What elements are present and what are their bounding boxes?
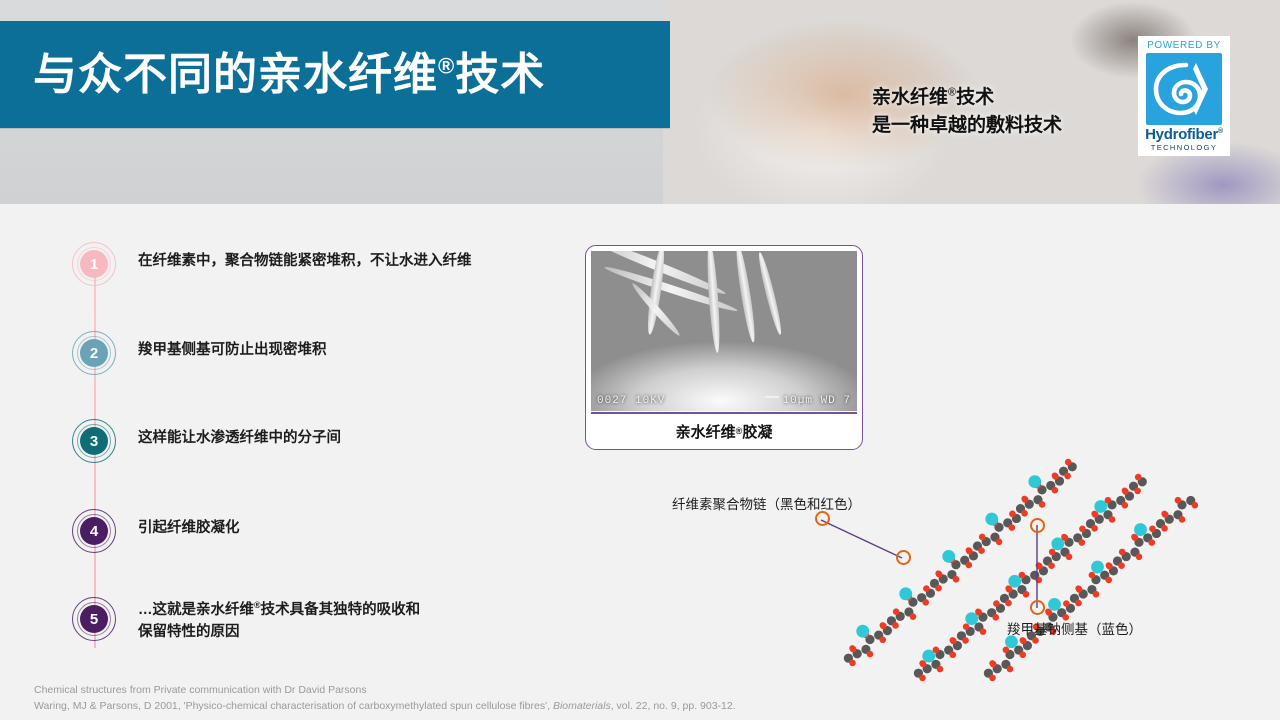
sem-image-card: 0027 10KV 10µm WD 7 亲水纤维® 胶凝 <box>585 245 863 450</box>
step-text-5-a: …这就是亲水纤维 <box>138 602 254 618</box>
molecule-chains-group <box>844 459 1198 681</box>
logo-wordmark: Hydrofiber® <box>1145 127 1223 143</box>
step-number-1: 1 <box>90 257 98 272</box>
footer-citation: Chemical structures from Private communi… <box>34 682 1234 715</box>
hero-caption-line-1-a: 亲水纤维 <box>872 87 948 108</box>
step-text-1: 在纤维素中，聚合物链能紧密堆积，不让水进入纤维 <box>138 251 472 273</box>
sem-micrograph-image <box>591 251 857 411</box>
hydrofiber-swirl-icon <box>1146 53 1222 125</box>
side-group-marker-upper-icon <box>1030 518 1045 533</box>
step-text-5-line2: 保留特性的原因 <box>138 624 240 640</box>
step-text-5-b: 技术具备其独特的吸收和 <box>261 602 421 618</box>
step-bullet-5: 5 <box>72 597 116 641</box>
hero-caption-line-2: 是一种卓越的敷料技术 <box>872 112 1062 140</box>
hydrofiber-logo: POWERED BY Hydrofiber® TECHNOLOGY <box>1138 36 1230 156</box>
molecule-label-side-group: 羧甲基钠侧基（蓝色） <box>1007 618 1142 638</box>
footer-line-1: Chemical structures from Private communi… <box>34 682 1234 698</box>
chain-marker-lower-icon <box>896 550 911 565</box>
footer-line-2-b: , vol. 22, no. 9, pp. 903-12. <box>611 700 736 712</box>
page-title: 与众不同的亲水纤维®技术 <box>33 53 545 97</box>
sem-scale-tick-icon <box>765 396 779 398</box>
step-number-2: 2 <box>90 346 98 361</box>
sem-scale-bar: 0027 10KV 10µm WD 7 <box>591 391 857 411</box>
step-text-3: 这样能让水渗透纤维中的分子间 <box>138 428 341 450</box>
footer-line-2-a: Waring, MJ & Parsons, D 2001, 'Physico-c… <box>34 700 553 712</box>
logo-registered-mark: ® <box>1218 128 1223 135</box>
hero-caption-registered-mark: ® <box>948 87 956 99</box>
sem-bar-left-text: 0027 10KV <box>597 395 665 407</box>
footer-journal-name: Biomaterials <box>553 700 611 712</box>
step-number-3: 3 <box>90 434 98 449</box>
step-text-2: 羧甲基侧基可防止出现密堆积 <box>138 340 327 362</box>
side-group-marker-lower-icon <box>1030 600 1045 615</box>
page-title-tail: 技术 <box>455 50 545 99</box>
chain-marker-upper-icon <box>815 511 830 526</box>
logo-name-text: Hydrofiber <box>1145 126 1218 143</box>
step-item-2[interactable]: 2 羧甲基侧基可防止出现密堆积 <box>72 331 327 375</box>
step-bullet-2: 2 <box>72 331 116 375</box>
sem-caption-a: 亲水纤维 <box>676 421 736 442</box>
hero-caption: 亲水纤维®技术 是一种卓越的敷料技术 <box>872 84 1062 139</box>
sem-bar-right: 10µm WD 7 <box>765 395 851 407</box>
step-number-4: 4 <box>90 524 98 539</box>
step-item-3[interactable]: 3 这样能让水渗透纤维中的分子间 <box>72 419 341 463</box>
molecule-label-cellulose-chain: 纤维素聚合物链（黑色和红色） <box>672 493 861 513</box>
sem-caption-registered-mark: ® <box>736 426 743 436</box>
sem-fiber-strand <box>733 251 758 343</box>
step-item-4[interactable]: 4 引起纤维胶凝化 <box>72 509 240 553</box>
hero-caption-line-1: 亲水纤维®技术 <box>872 84 1062 112</box>
logo-powered-by-text: POWERED BY <box>1147 40 1221 51</box>
logo-technology-text: TECHNOLOGY <box>1151 143 1218 152</box>
sem-fiber-strand <box>756 251 784 335</box>
step-item-1[interactable]: 1 在纤维素中，聚合物链能紧密堆积，不让水进入纤维 <box>72 242 472 286</box>
hero-caption-line-1-b: 技术 <box>956 87 994 108</box>
title-band: 与众不同的亲水纤维®技术 <box>0 21 670 128</box>
step-bullet-3: 3 <box>72 419 116 463</box>
step-5-registered-mark: ® <box>254 600 261 610</box>
step-text-4: 引起纤维胶凝化 <box>138 518 240 540</box>
step-bullet-1: 1 <box>72 242 116 286</box>
step-bullet-4: 4 <box>72 509 116 553</box>
step-number-5: 5 <box>90 612 98 627</box>
sem-caption-b: 胶凝 <box>742 421 772 442</box>
page-title-registered-mark: ® <box>438 53 455 78</box>
footer-line-2: Waring, MJ & Parsons, D 2001, 'Physico-c… <box>34 698 1234 714</box>
slide-root: 与众不同的亲水纤维®技术 亲水纤维®技术 是一种卓越的敷料技术 POWERED … <box>0 0 1280 720</box>
sem-caption: 亲水纤维® 胶凝 <box>586 414 862 448</box>
step-text-5: …这就是亲水纤维®技术具备其独特的吸收和 保留特性的原因 <box>138 599 420 643</box>
step-item-5[interactable]: 5 …这就是亲水纤维®技术具备其独特的吸收和 保留特性的原因 <box>72 597 420 643</box>
page-title-main: 与众不同的亲水纤维 <box>33 50 438 99</box>
